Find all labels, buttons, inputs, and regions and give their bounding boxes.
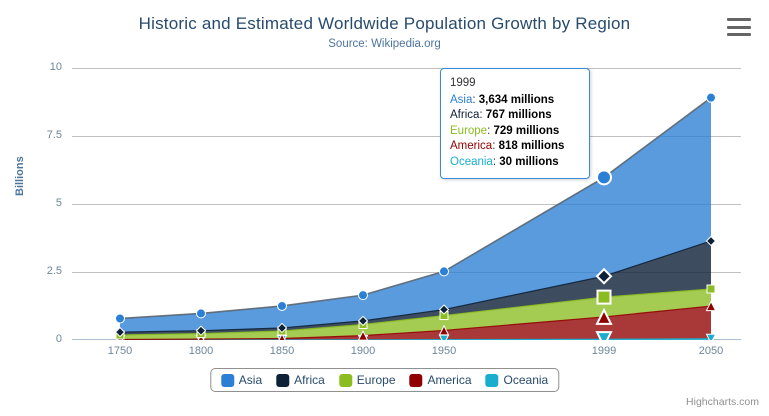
tooltip-series-name-asia: Asia xyxy=(450,94,472,106)
legend-swatch-europe xyxy=(339,374,352,387)
legend-swatch-oceania xyxy=(486,374,499,387)
y-tick-label-2.5: 2.5 xyxy=(30,265,62,277)
tooltip-row-oceania: Oceania: 30 millions xyxy=(450,155,580,171)
tooltip-row-asia: Asia: 3,634 millions xyxy=(450,93,580,109)
point-asia-2050[interactable] xyxy=(707,93,716,102)
tooltip-header: 1999 xyxy=(450,76,580,93)
point-asia-1850[interactable] xyxy=(278,301,287,310)
legend-swatch-asia xyxy=(221,374,234,387)
point-europe-2050[interactable] xyxy=(707,285,715,293)
tooltip-value-europe: 729 millions xyxy=(493,125,559,137)
point-asia-1750[interactable] xyxy=(116,314,125,323)
series-layer xyxy=(72,68,741,340)
y-tick-label-10: 10 xyxy=(30,61,62,73)
hamburger-bar-3 xyxy=(727,33,751,36)
x-tick-label-1850: 1850 xyxy=(252,345,312,357)
legend-label-europe: Europe xyxy=(357,373,396,387)
hamburger-bar-2 xyxy=(727,26,751,29)
legend-item-america[interactable]: America xyxy=(410,373,472,387)
point-asia-1900[interactable] xyxy=(359,291,368,300)
point-asia-1950[interactable] xyxy=(440,267,449,276)
highcharts-container: Historic and Estimated Worldwide Populat… xyxy=(0,0,769,416)
legend-swatch-africa xyxy=(276,374,289,387)
x-tick-label-2050: 2050 xyxy=(681,345,741,357)
plot-area xyxy=(72,68,741,340)
tooltip-series-name-europe: Europe xyxy=(450,125,487,137)
legend-label-america: America xyxy=(428,373,472,387)
legend-item-europe[interactable]: Europe xyxy=(339,373,396,387)
hamburger-menu-icon[interactable] xyxy=(727,18,751,36)
tooltip-value-america: 818 millions xyxy=(499,140,565,152)
tooltip: 1999 Asia: 3,634 millions Africa: 767 mi… xyxy=(440,68,590,179)
legend-swatch-america xyxy=(410,374,423,387)
chart-title: Historic and Estimated Worldwide Populat… xyxy=(0,14,769,34)
tooltip-series-name-africa: Africa xyxy=(450,109,479,121)
tooltip-value-africa: 767 millions xyxy=(486,109,552,121)
tooltip-row-america: America: 818 millions xyxy=(450,139,580,155)
legend: Asia Africa Europe America Oceania xyxy=(210,368,559,392)
legend-item-asia[interactable]: Asia xyxy=(221,373,262,387)
tooltip-series-name-america: America xyxy=(450,140,492,152)
tooltip-value-oceania: 30 millions xyxy=(499,156,558,168)
legend-label-asia: Asia xyxy=(239,373,262,387)
x-tick-label-1999: 1999 xyxy=(574,345,634,357)
point-asia-1800[interactable] xyxy=(197,309,206,318)
x-tick-label-1950: 1950 xyxy=(414,345,474,357)
y-tick-label-0: 0 xyxy=(30,333,62,345)
tooltip-value-asia: 3,634 millions xyxy=(479,94,554,106)
y-axis-title: Billions xyxy=(14,156,26,196)
x-tick-label-1900: 1900 xyxy=(333,345,393,357)
y-tick-label-7.5: 7.5 xyxy=(30,129,62,141)
tooltip-series-name-oceania: Oceania xyxy=(450,156,493,168)
x-tick-label-1800: 1800 xyxy=(171,345,231,357)
chart-subtitle: Source: Wikipedia.org xyxy=(0,38,769,50)
credits-link[interactable]: Highcharts.com xyxy=(686,396,759,408)
y-tick-label-5: 5 xyxy=(30,197,62,209)
tooltip-row-africa: Africa: 767 millions xyxy=(450,108,580,124)
x-tick-label-1750: 1750 xyxy=(90,345,150,357)
legend-item-africa[interactable]: Africa xyxy=(276,373,325,387)
point-europe-1999[interactable] xyxy=(598,291,611,304)
hamburger-bar-1 xyxy=(727,18,751,21)
legend-label-africa: Africa xyxy=(294,373,325,387)
legend-label-oceania: Oceania xyxy=(504,373,549,387)
tooltip-row-europe: Europe: 729 millions xyxy=(450,124,580,140)
point-asia-1999[interactable] xyxy=(597,170,611,184)
legend-item-oceania[interactable]: Oceania xyxy=(486,373,549,387)
